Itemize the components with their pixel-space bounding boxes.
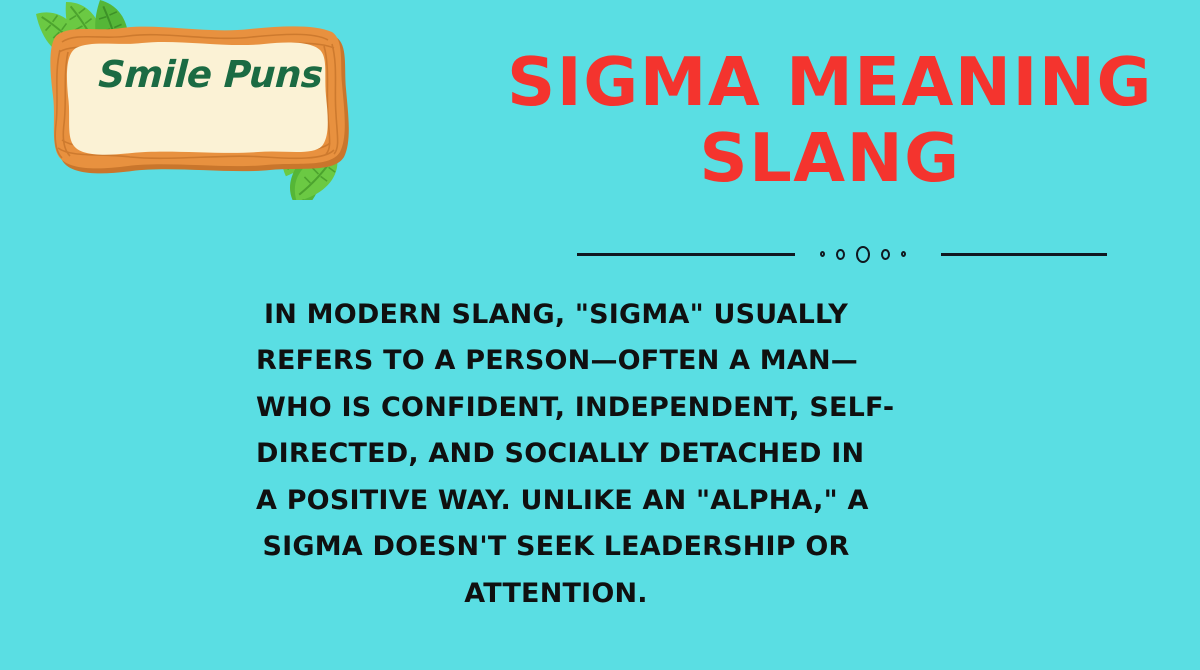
divider-dot-icon [820,251,825,257]
divider-rule-left [577,253,795,256]
divider-dot-icon [856,246,870,263]
page-title-line-1: SIGMA MEANING [500,44,1160,120]
site-logo-badge[interactable]: Smile Puns [18,0,378,200]
divider-dot-icon [901,251,906,257]
logo-wordmark: Smile Puns [77,56,344,93]
divider-dot-icon [836,249,845,260]
page-title-line-2: SLANG [500,120,1160,196]
logo-graphic [18,0,378,200]
divider-dot-icon [881,249,890,260]
definition-line: IN MODERN SLANG, "SIGMA" USUALLY [256,292,856,338]
ornamental-divider [550,240,1134,268]
definition-line: ATTENTION. [256,571,856,617]
divider-rule-right [941,253,1107,256]
definition-line: A POSITIVE WAY. UNLIKE AN "ALPHA," A [256,478,856,524]
definition-line: DIRECTED, AND SOCIALLY DETACHED IN [256,431,856,477]
definition-line: SIGMA DOESN'T SEEK LEADERSHIP OR [256,524,856,570]
definition-line: WHO IS CONFIDENT, INDEPENDENT, SELF- [256,385,856,431]
definition-line: REFERS TO A PERSON—OFTEN A MAN— [256,338,856,384]
page-title: SIGMA MEANING SLANG [500,44,1160,197]
definition-paragraph: IN MODERN SLANG, "SIGMA" USUALLY REFERS … [256,292,856,617]
divider-dot-group [820,246,906,263]
